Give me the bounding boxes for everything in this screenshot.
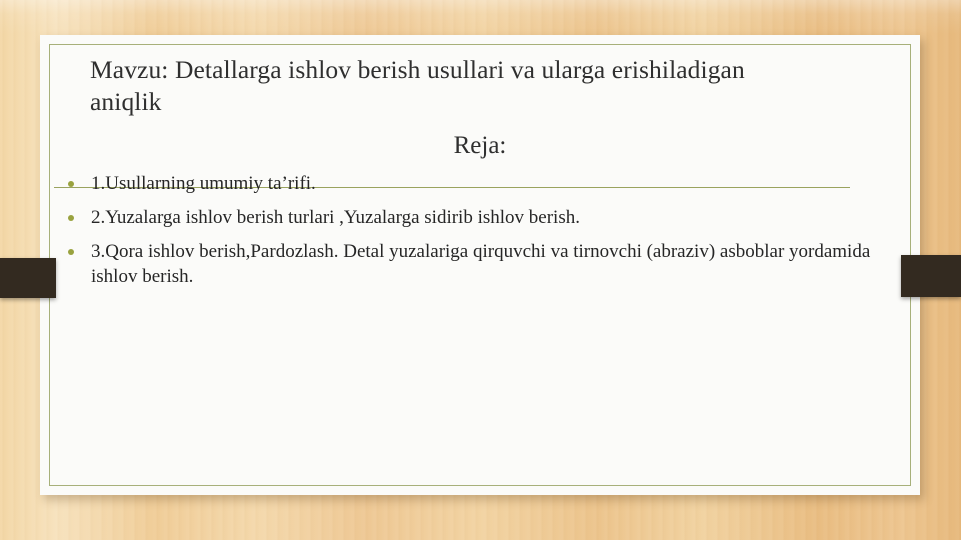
right-overlay-bar <box>901 255 961 297</box>
list-item: 1.Usullarning umumiy ta’rifi. <box>54 172 916 197</box>
bullet-dot-icon <box>68 249 74 255</box>
list-item-label: 3.Qora ishlov berish,Pardozlash. Detal y… <box>91 241 870 287</box>
list-item-label: 2.Yuzalarga ishlov berish turlari ,Yuzal… <box>91 207 580 228</box>
bullet-dot-icon <box>68 215 74 221</box>
bullet-list: 1.Usullarning umumiy ta’rifi. 2.Yuzalarg… <box>54 172 916 299</box>
slide-title: Mavzu: Detallarga ishlov berish usullari… <box>90 54 790 119</box>
list-item: 3.Qora ishlov berish,Pardozlash. Detal y… <box>54 240 916 290</box>
bullet-dot-icon <box>68 181 74 187</box>
plan-heading: Reja: <box>40 132 920 160</box>
slide-card: Mavzu: Detallarga ishlov berish usullari… <box>40 35 920 495</box>
slide-content: Mavzu: Detallarga ishlov berish usullari… <box>40 35 920 495</box>
list-item: 2.Yuzalarga ishlov berish turlari ,Yuzal… <box>54 206 916 231</box>
slide-stage: Mavzu: Detallarga ishlov berish usullari… <box>0 0 961 540</box>
list-item-label: 1.Usullarning umumiy ta’rifi. <box>91 173 316 194</box>
left-overlay-bar <box>0 258 56 298</box>
